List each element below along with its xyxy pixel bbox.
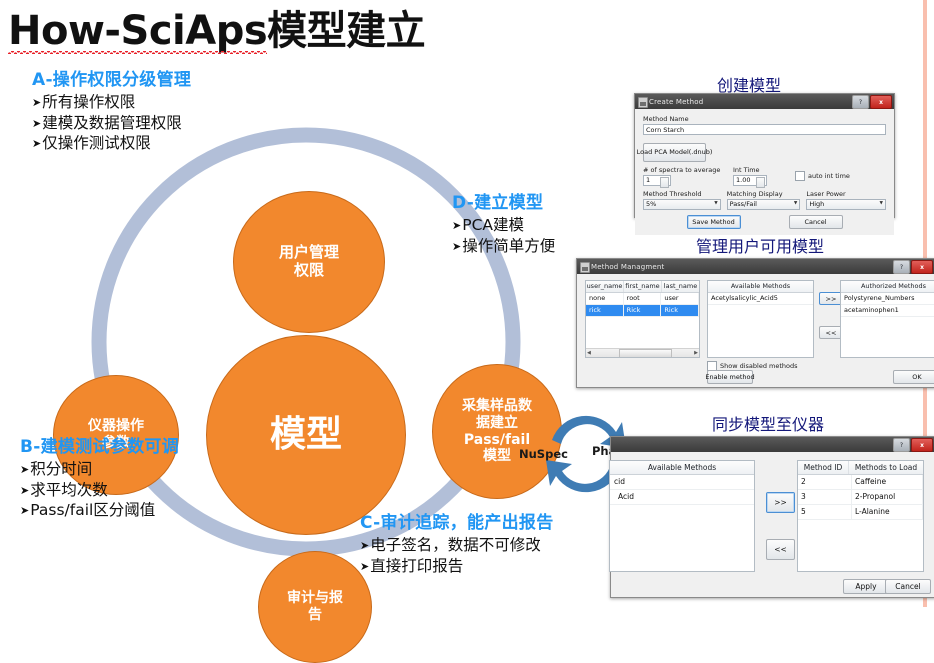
list-item[interactable]: Polystyrene_Numbers xyxy=(841,293,934,305)
table-row[interactable]: none root user xyxy=(586,293,699,305)
authorized-methods-header: Authorized Methods xyxy=(841,281,934,293)
annotation-b-item: Pass/fail区分阈值 xyxy=(20,500,179,521)
move-left-button[interactable]: << xyxy=(766,539,795,560)
method-threshold-select[interactable]: 5% xyxy=(643,199,721,210)
section-title-manage-user-methods: 管理用户可用模型 xyxy=(696,233,824,257)
int-time-stepper[interactable]: 1.00 xyxy=(733,175,767,186)
window-controls[interactable]: ? x xyxy=(893,438,933,452)
available-methods-list[interactable]: Available Methods Acetylsalicylic_Acid5 xyxy=(707,280,814,358)
annotation-b-item: 求平均次数 xyxy=(20,480,179,501)
window-controls[interactable]: ? x xyxy=(893,260,933,274)
cell-method-name: Caffeine xyxy=(852,475,923,489)
scroll-right-icon[interactable]: ▶ xyxy=(694,350,698,356)
cancel-button[interactable]: Cancel xyxy=(789,215,843,229)
annotation-c-heading: C-审计追踪，能产出报告 xyxy=(360,513,554,534)
cycle-node-user-management: 用户管理 权限 xyxy=(233,191,385,333)
annotation-b-list: 积分时间 求平均次数 Pass/fail区分阈值 xyxy=(20,459,179,521)
list-item[interactable]: acetaminophen1 xyxy=(841,305,934,317)
move-right-button[interactable]: >> xyxy=(766,492,795,513)
create-method-dialog[interactable]: Create Method ? x Method Name Corn Starc… xyxy=(634,93,895,218)
load-methods-dialog[interactable]: ? x Available Methods cid Acid >> << Met… xyxy=(610,436,934,598)
table-row[interactable]: 3 2-Propanol xyxy=(798,490,923,505)
matching-display-label: Matching Display xyxy=(727,190,801,198)
available-methods-header: Available Methods xyxy=(708,281,813,293)
methods-to-load-table[interactable]: Method ID Methods to Load 2 Caffeine 3 2… xyxy=(797,460,924,572)
annotation-d-item: 操作简单方便 xyxy=(452,236,555,257)
page-title-cjk: 模型建立 xyxy=(267,8,425,54)
sync-label-nuspec: NuSpec xyxy=(519,447,568,461)
cell-user-name: none xyxy=(586,293,624,304)
cycle-node-center-label: 模型 xyxy=(266,414,346,456)
cycle-node-bottom-label: 审计与报 告 xyxy=(283,590,347,623)
list-item[interactable]: Acid xyxy=(610,490,754,505)
annotation-b-item: 积分时间 xyxy=(20,459,179,480)
cell-method-id: 5 xyxy=(798,505,852,519)
cell-first-name: Rick xyxy=(624,305,662,316)
spectra-average-label: # of spectra to average xyxy=(643,166,723,174)
users-col-first-name: first_name xyxy=(624,281,662,292)
users-table-header: user_name first_name last_name xyxy=(586,281,699,293)
spectra-average-stepper[interactable]: 1 xyxy=(643,175,671,186)
create-method-titlebar[interactable]: Create Method ? x xyxy=(635,94,894,109)
window-controls[interactable]: ? x xyxy=(852,95,892,109)
auto-int-time-label: auto int time xyxy=(808,172,850,180)
method-management-title: Method Managment xyxy=(577,263,664,271)
window-app-icon xyxy=(580,262,590,273)
page-title: How-SciAps模型建立 xyxy=(8,0,425,56)
method-threshold-label: Method Threshold xyxy=(643,190,721,198)
cycle-node-center: 模型 xyxy=(206,335,406,535)
help-button[interactable]: ? xyxy=(893,438,910,452)
ok-button[interactable]: OK xyxy=(893,370,934,384)
list-item[interactable]: cid xyxy=(610,475,754,490)
annotation-c-list: 电子签名，数据不可修改 直接打印报告 xyxy=(360,535,554,576)
col-methods-to-load: Methods to Load xyxy=(849,461,923,474)
cell-first-name: root xyxy=(624,293,662,304)
load-methods-titlebar[interactable]: ? x xyxy=(611,437,934,452)
annotation-d-heading: D-建立模型 xyxy=(452,193,555,214)
annotation-a-item: 建模及数据管理权限 xyxy=(32,113,191,134)
window-app-icon xyxy=(638,97,648,108)
create-method-body: Method Name Corn Starch Load PCA Model(.… xyxy=(635,109,894,235)
cell-last-name: Rick xyxy=(661,305,699,316)
close-icon[interactable]: x xyxy=(911,260,933,274)
method-management-titlebar[interactable]: Method Managment ? x xyxy=(577,259,934,274)
section-title-sync-to-instrument: 同步模型至仪器 xyxy=(712,411,824,435)
cell-method-name: L-Alanine xyxy=(852,505,923,519)
slide-canvas: How-SciAps模型建立 模型 用户管理 权限 仪器操作 参数 采集样品数 … xyxy=(0,0,934,607)
page-title-latin: How-SciAps xyxy=(8,8,267,54)
annotation-b-heading: B-建模测试参数可调 xyxy=(20,437,179,458)
scroll-left-icon[interactable]: ◀ xyxy=(587,350,591,356)
annotation-a-item: 仅操作测试权限 xyxy=(32,133,191,154)
help-button[interactable]: ? xyxy=(852,95,869,109)
matching-display-select[interactable]: Pass/Fail xyxy=(727,199,801,210)
users-table-hscrollbar[interactable]: ◀ ▶ xyxy=(586,348,699,357)
enable-method-button[interactable]: Enable method xyxy=(707,370,753,384)
annotation-a-item: 所有操作权限 xyxy=(32,92,191,113)
close-icon[interactable]: x xyxy=(911,438,933,452)
int-time-label: Int Time xyxy=(733,166,785,174)
available-methods-list[interactable]: Available Methods cid Acid xyxy=(609,460,755,572)
cell-method-name: 2-Propanol xyxy=(852,490,923,504)
laser-power-select[interactable]: High xyxy=(806,199,886,210)
annotation-d-item: PCA建模 xyxy=(452,215,555,236)
annotation-a-list: 所有操作权限 建模及数据管理权限 仅操作测试权限 xyxy=(32,92,191,154)
load-methods-body: Available Methods cid Acid >> << Method … xyxy=(611,452,934,595)
methods-to-load-header: Method ID Methods to Load xyxy=(798,461,923,475)
method-name-input[interactable]: Corn Starch xyxy=(643,124,886,135)
cycle-node-top-label: 用户管理 权限 xyxy=(275,244,343,279)
annotation-d: D-建立模型 PCA建模 操作简单方便 xyxy=(452,193,555,256)
auto-int-time-checkbox[interactable]: auto int time xyxy=(795,171,850,181)
users-col-last-name: last_name xyxy=(662,281,699,292)
annotation-b: B-建模测试参数可调 积分时间 求平均次数 Pass/fail区分阈值 xyxy=(20,437,179,521)
cell-method-id: 3 xyxy=(798,490,852,504)
table-row[interactable]: rick Rick Rick xyxy=(586,305,699,317)
annotation-a-heading: A-操作权限分级管理 xyxy=(32,70,191,91)
cell-method-id: 2 xyxy=(798,475,852,489)
available-methods-header: Available Methods xyxy=(610,461,754,475)
apply-button[interactable]: Apply xyxy=(843,579,889,594)
cancel-button[interactable]: Cancel xyxy=(885,579,931,594)
table-row[interactable]: 5 L-Alanine xyxy=(798,505,923,520)
help-button[interactable]: ? xyxy=(893,260,910,274)
load-pca-model-button[interactable]: Load PCA Model(.dnub) xyxy=(643,143,706,162)
method-name-label: Method Name xyxy=(643,115,886,123)
annotation-d-list: PCA建模 操作简单方便 xyxy=(452,215,555,256)
cell-last-name: user xyxy=(661,293,699,304)
laser-power-label: Laser Power xyxy=(806,190,886,198)
method-management-body: user_name first_name last_name none root… xyxy=(577,274,934,381)
method-management-dialog[interactable]: Method Managment ? x user_name first_nam… xyxy=(576,258,934,388)
cycle-node-audit-report: 审计与报 告 xyxy=(258,551,372,663)
checkbox-icon[interactable] xyxy=(795,171,805,181)
users-table[interactable]: user_name first_name last_name none root… xyxy=(585,280,700,358)
cell-user-name: rick xyxy=(586,305,624,316)
save-method-button[interactable]: Save Method xyxy=(687,215,741,229)
col-method-id: Method ID xyxy=(798,461,849,474)
scroll-thumb[interactable] xyxy=(619,349,672,358)
annotation-c: C-审计追踪，能产出报告 电子签名，数据不可修改 直接打印报告 xyxy=(360,513,554,576)
annotation-c-item: 电子签名，数据不可修改 xyxy=(360,535,554,556)
table-row[interactable]: 2 Caffeine xyxy=(798,475,923,490)
annotation-a: A-操作权限分级管理 所有操作权限 建模及数据管理权限 仅操作测试权限 xyxy=(32,70,191,154)
close-icon[interactable]: x xyxy=(870,95,892,109)
annotation-c-item: 直接打印报告 xyxy=(360,556,554,577)
show-disabled-methods-label: Show disabled methods xyxy=(720,362,798,370)
authorized-methods-list[interactable]: Authorized Methods Polystyrene_Numbers a… xyxy=(840,280,934,358)
list-item[interactable]: Acetylsalicylic_Acid5 xyxy=(708,293,813,305)
users-col-user-name: user_name xyxy=(586,281,624,292)
